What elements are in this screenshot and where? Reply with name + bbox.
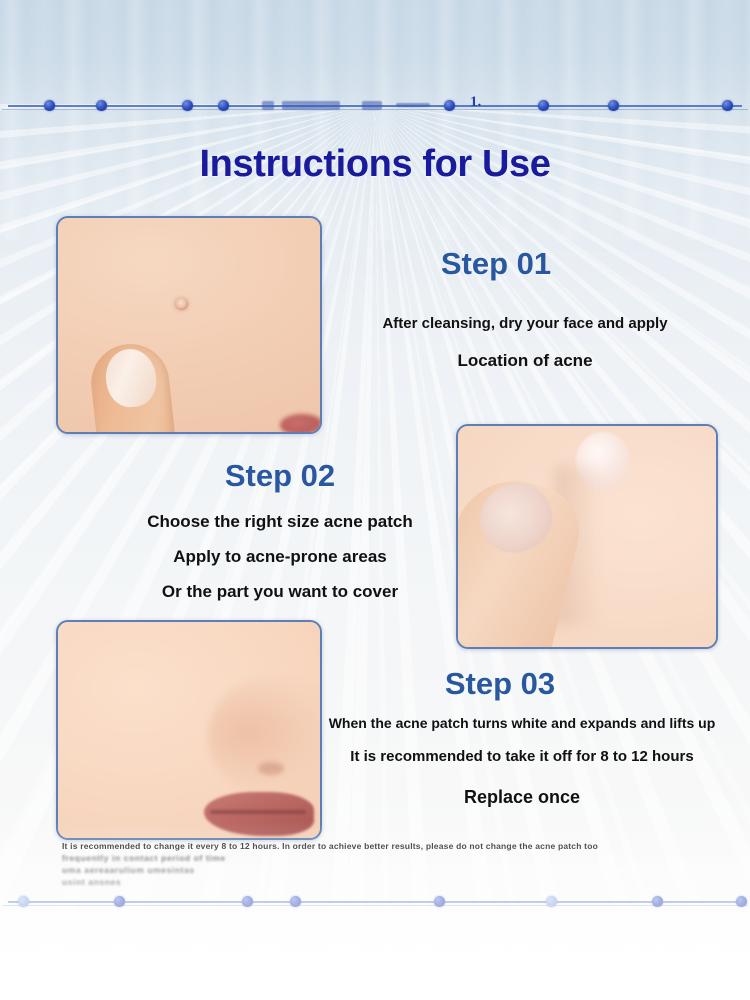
rule-bead	[96, 100, 107, 111]
fineprint-line-1: It is recommended to change it every 8 t…	[62, 840, 722, 852]
rule-bead	[182, 100, 193, 111]
page-title: Instructions for Use	[0, 143, 750, 186]
rule-line-secondary	[2, 905, 748, 906]
step-02-line-2: Apply to acne-prone areas	[30, 539, 530, 574]
cheek-after-photo	[56, 620, 322, 840]
step-03-heading: Step 03	[270, 666, 730, 702]
step-02-text: Choose the right size acne patch Apply t…	[30, 504, 530, 609]
lip-corner	[280, 414, 322, 434]
fineprint-line-3: uma aereaarulium umesintas	[62, 864, 722, 876]
rule-bead	[290, 896, 301, 907]
rule-bead	[114, 896, 125, 907]
bottom-decorative-rule	[0, 892, 750, 914]
step-01-line-1: After cleansing, dry your face and apply	[330, 305, 720, 342]
rule-glyph-number: 1.	[470, 94, 481, 111]
step-02-line-1: Choose the right size acne patch	[30, 504, 530, 539]
rule-smudge	[396, 103, 430, 107]
lip-line	[210, 810, 306, 814]
rule-bead	[546, 896, 557, 907]
rule-bead	[44, 100, 55, 111]
rule-smudge	[362, 101, 382, 110]
fineprint-line-2: frequently in contact period of time	[62, 852, 722, 864]
step-03-line-3: Replace once	[312, 786, 732, 808]
rule-bead	[434, 896, 445, 907]
step-01-line-2: Location of acne	[330, 342, 720, 379]
rule-smudge	[262, 101, 274, 110]
rule-smudge	[282, 101, 340, 110]
rule-bead	[736, 896, 747, 907]
top-decorative-rule: 1.	[0, 96, 750, 118]
rule-bead	[538, 100, 549, 111]
rule-bead	[18, 896, 29, 907]
rule-bead	[242, 896, 253, 907]
step-01-text: After cleansing, dry your face and apply…	[330, 305, 720, 379]
applying-patch-photo	[456, 424, 718, 649]
step-03-text: When the acne patch turns white and expa…	[312, 712, 732, 808]
acne-spot	[175, 298, 188, 310]
fineprint-block: It is recommended to change it every 8 t…	[62, 840, 722, 888]
fineprint-line-4: usint ansnes	[62, 876, 722, 888]
step-02-line-3: Or the part you want to cover	[30, 574, 530, 609]
rule-bead	[652, 896, 663, 907]
rule-bead	[444, 100, 455, 111]
rule-bead	[722, 100, 733, 111]
rule-bead	[218, 100, 229, 111]
rule-bead	[608, 100, 619, 111]
nostril	[258, 762, 284, 775]
step-03-line-2: It is recommended to take it off for 8 t…	[312, 746, 732, 768]
step-03-line-1: When the acne patch turns white and expa…	[312, 712, 732, 734]
step-01-heading: Step 01	[0, 246, 750, 282]
instructions-poster: 1. Instructions for Use Step 01 After cl…	[0, 0, 750, 1000]
